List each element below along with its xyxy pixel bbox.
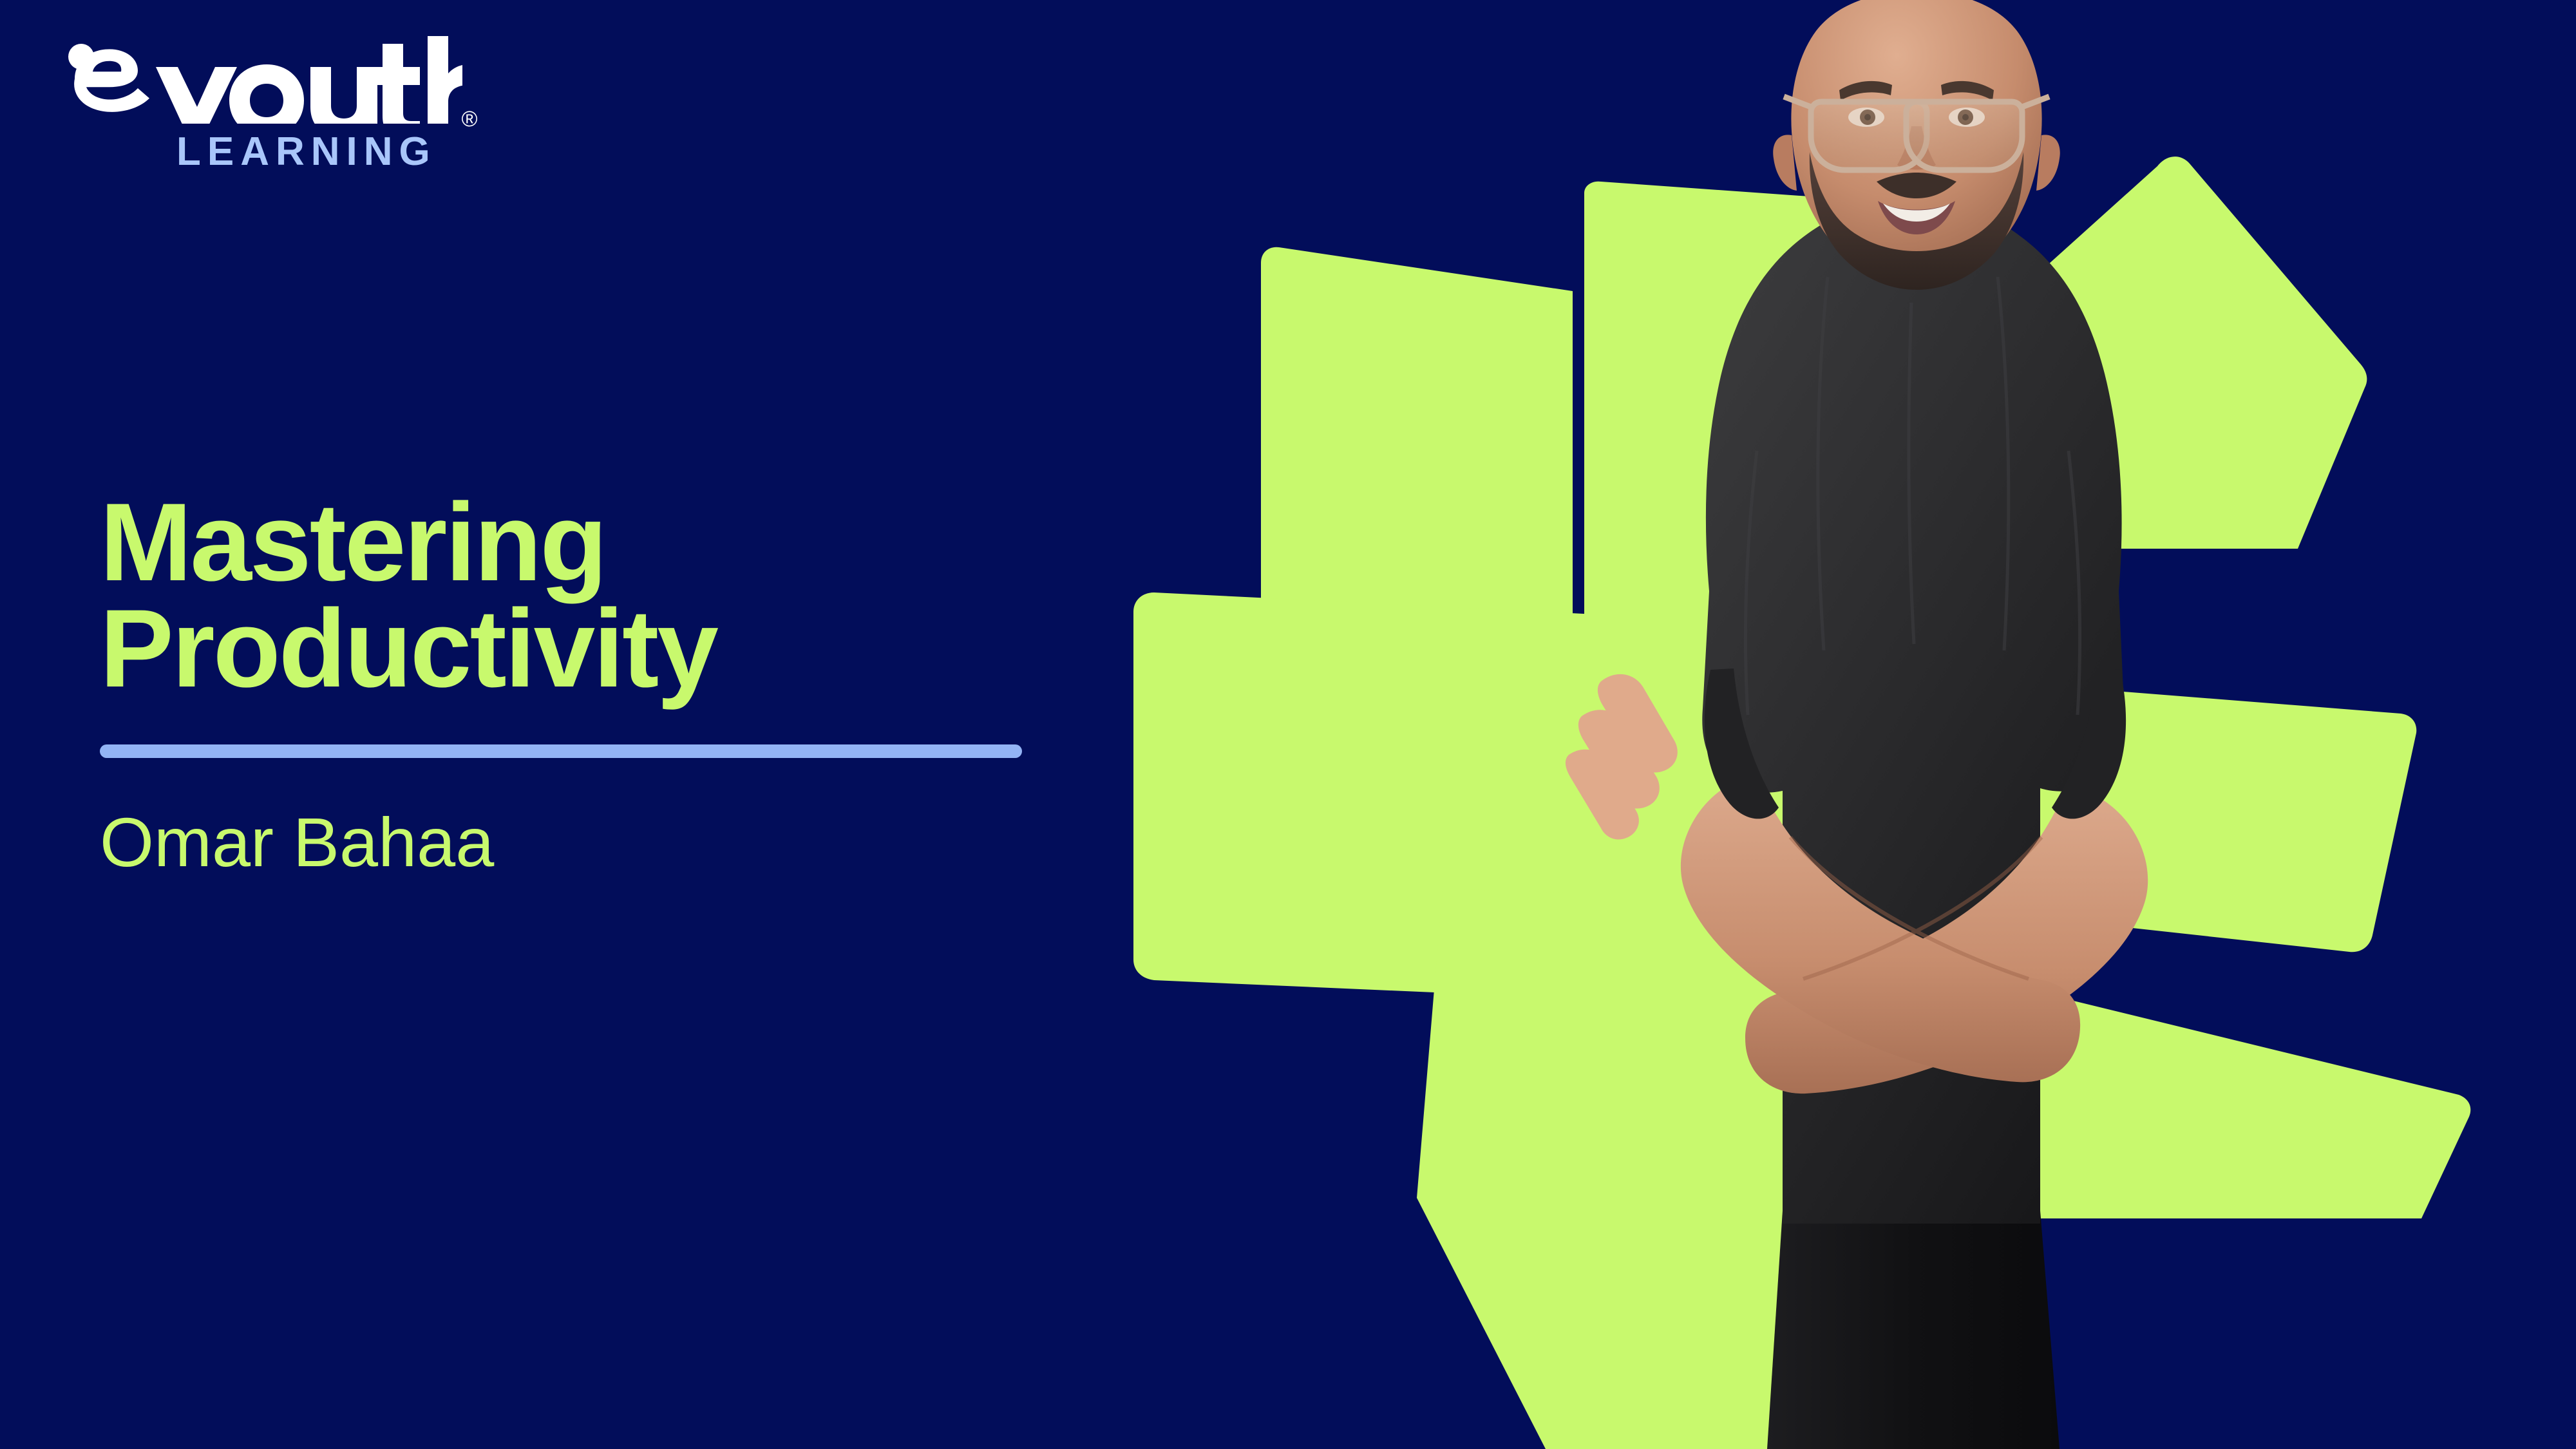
title-slide: ® LEARNING Mastering Productivity Omar B…	[0, 0, 2576, 1449]
page-title: Mastering Productivity	[100, 489, 1130, 702]
registered-trademark-icon: ®	[456, 106, 483, 133]
brand-logo[interactable]: ® LEARNING	[50, 33, 462, 156]
eyouth-wordmark-icon	[50, 33, 462, 124]
glasses-icon	[1784, 97, 2049, 170]
hero-figure	[1095, 0, 2576, 1449]
title-divider	[100, 744, 1022, 758]
title-text-column: Mastering Productivity Omar Bahaa	[100, 489, 1130, 879]
presenter-name: Omar Bahaa	[100, 806, 1130, 878]
presenter-photo	[1095, 0, 2576, 1449]
logo-tagline: LEARNING	[176, 129, 437, 175]
